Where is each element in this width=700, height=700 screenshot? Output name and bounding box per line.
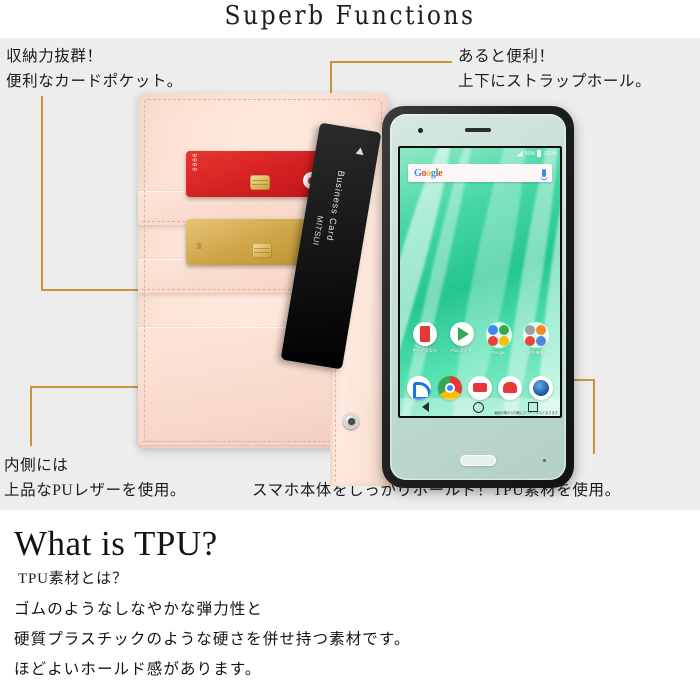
mail-app-icon[interactable] — [498, 376, 522, 400]
service-app-icon[interactable] — [413, 322, 437, 346]
callout-line: 内側には — [4, 453, 186, 478]
info-title: What is TPU? — [14, 524, 218, 564]
folder-app-dot — [536, 325, 546, 335]
tpu-info-panel: What is TPU? TPU素材とは？ ゴムのようなしなやかな弾力性と 硬質… — [0, 510, 700, 700]
business-card-company: MITSUI — [311, 215, 325, 246]
clock: 12:34 — [543, 151, 557, 157]
smartphone: 90% 12:34 Google サービス案内 — [390, 114, 566, 480]
chrome-app-icon[interactable] — [438, 376, 462, 400]
dock — [404, 376, 556, 400]
callout-line: 上品なPUレザーを使用。 — [4, 478, 186, 503]
status-bar: 90% 12:34 — [400, 148, 560, 159]
callout-pu-leather: 内側には 上品なPUレザーを使用。 — [4, 453, 186, 503]
gold-card-mark: 金 — [196, 241, 202, 250]
callout-line: 上下にストラップホール。 — [458, 69, 651, 94]
info-subtitle: TPU素材とは？ — [18, 567, 128, 588]
chip-icon — [252, 243, 272, 258]
strap-hole-grommet-bottom — [343, 413, 359, 429]
camera-app-icon[interactable] — [529, 376, 553, 400]
callout-card-pocket: 収納力抜群！ 便利なカードポケット。 — [6, 44, 183, 94]
message-app-icon[interactable] — [468, 376, 492, 400]
tools-folder-icon[interactable] — [523, 322, 549, 348]
sensor-dot-icon — [543, 459, 546, 462]
leader-line-strap-horizontal — [330, 61, 452, 63]
phone-screen: 90% 12:34 Google サービス案内 — [398, 146, 562, 418]
folder-app-dot — [488, 336, 498, 346]
app-slot[interactable]: 便利機能 — [521, 322, 551, 356]
home-button[interactable] — [460, 455, 496, 466]
business-card-label: Business Card — [325, 170, 347, 242]
leader-line-pocket-vertical — [41, 96, 43, 291]
folder-app-dot — [536, 336, 546, 346]
callout-strap-hole: あると便利！ 上下にストラップホール。 — [458, 44, 651, 94]
google-folder-icon[interactable] — [486, 322, 512, 348]
info-body-line: 硬質プラスチックのような硬さを併せ持つ素材です。 — [14, 625, 411, 655]
feature-stage: 収納力抜群！ 便利なカードポケット。 あると便利！ 上下にストラップホール。 内… — [0, 38, 700, 510]
leader-line-tpu-vertical — [593, 379, 595, 454]
title-band: Superb Functions — [0, 0, 700, 38]
leader-line-leather-vertical — [30, 386, 32, 446]
app-slot[interactable]: Google — [484, 322, 514, 356]
android-nav-bar: 画面の端から内側にスワイプすると戻ります — [400, 398, 560, 416]
info-body: ゴムのようなしなやかな弾力性と 硬質プラスチックのような硬さを併せ持つ素材です。… — [14, 595, 411, 685]
back-triangle-icon[interactable] — [422, 402, 429, 412]
battery-percent: 90% — [525, 151, 536, 157]
front-camera-icon — [418, 128, 423, 133]
google-logo-icon: Google — [414, 168, 442, 179]
play-store-icon[interactable] — [450, 322, 474, 346]
app-label: サービス案内 — [410, 348, 440, 354]
signal-icon — [517, 151, 523, 157]
app-slot[interactable]: Playストア — [447, 322, 477, 356]
folder-app-dot — [488, 325, 498, 335]
folder-app-dot — [525, 325, 535, 335]
product-infographic: Superb Functions 収納力抜群！ 便利なカードポケット。 あると便… — [0, 0, 700, 700]
app-row: サービス案内 Playストア — [406, 322, 554, 356]
microphone-icon[interactable] — [542, 169, 546, 177]
card-number: 0000 — [192, 153, 199, 171]
earpiece-speaker — [465, 128, 491, 132]
card-triangle-icon — [356, 147, 365, 155]
info-body-line: ゴムのようなしなやかな弾力性と — [14, 595, 411, 625]
app-label: Google — [484, 350, 514, 355]
battery-icon — [537, 150, 541, 157]
app-slot[interactable]: サービス案内 — [410, 322, 440, 356]
callout-line: 収納力抜群！ — [6, 44, 183, 69]
folder-app-dot — [499, 325, 509, 335]
home-circle-icon[interactable] — [473, 402, 484, 413]
chip-icon — [250, 175, 270, 190]
app-label: Playストア — [447, 348, 477, 354]
nav-note: 画面の端から内側にスワイプすると戻ります — [494, 410, 558, 415]
info-body-line: ほどよいホールド感があります。 — [14, 655, 411, 685]
callout-line: あると便利！ — [458, 44, 651, 69]
phone-app-icon[interactable] — [407, 376, 431, 400]
page-title: Superb Functions — [0, 1, 700, 31]
callout-line: 便利なカードポケット。 — [6, 69, 183, 94]
google-search-bar[interactable]: Google — [408, 164, 552, 182]
folder-app-dot — [499, 336, 509, 346]
app-label: 便利機能 — [521, 350, 551, 356]
folder-app-dot — [525, 336, 535, 346]
